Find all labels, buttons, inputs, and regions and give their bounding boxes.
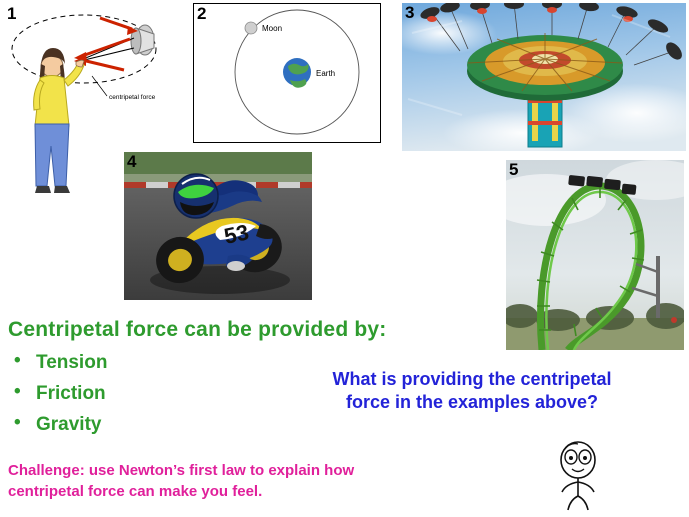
- motorcycle-image: 53: [124, 152, 312, 300]
- earth-label: Earth: [316, 69, 335, 78]
- panel-number-2: 2: [197, 4, 206, 24]
- question-line-2: force in the examples above?: [262, 391, 682, 414]
- earth-moon-illustration: Earth Moon: [194, 4, 380, 142]
- panel-number-5: 5: [509, 160, 518, 180]
- roller-coaster-image: [506, 160, 684, 350]
- question-block: What is providing the centripetal force …: [262, 368, 682, 414]
- panel-earth-moon-orbit: Earth Moon 2: [193, 3, 381, 143]
- list-item-friction: Friction: [10, 383, 107, 405]
- swing-carousel-image: [402, 3, 686, 151]
- panel-number-1: 1: [7, 4, 16, 24]
- page-title: Centripetal force can be provided by:: [8, 318, 386, 342]
- list-item-tension: Tension: [10, 352, 107, 374]
- challenge-line-2: centripetal force can make you feel.: [8, 481, 538, 502]
- moon-label: Moon: [262, 24, 282, 33]
- slide: centripetal force: [0, 0, 689, 517]
- centripetal-force-caption: centripetal force: [109, 94, 156, 101]
- panel-motorcycle-photo: 53 4: [124, 152, 312, 300]
- panel-number-4: 4: [127, 152, 136, 172]
- question-line-1: What is providing the centripetal: [262, 368, 682, 391]
- doodle-person-icon: [548, 440, 608, 512]
- list-item-gravity: Gravity: [10, 414, 107, 436]
- panel-swing-carousel-photo: 3: [402, 3, 686, 151]
- provided-by-list: Tension Friction Gravity: [10, 352, 107, 445]
- challenge-text: : use Newton’s first law to explain how: [80, 462, 354, 479]
- panel-roller-coaster-photo: 5: [506, 160, 684, 350]
- bike-number: 53: [222, 219, 251, 249]
- challenge-block: Challenge: use Newton’s first law to exp…: [8, 460, 538, 502]
- panel-number-3: 3: [405, 3, 414, 23]
- challenge-label: Challenge: [8, 462, 80, 479]
